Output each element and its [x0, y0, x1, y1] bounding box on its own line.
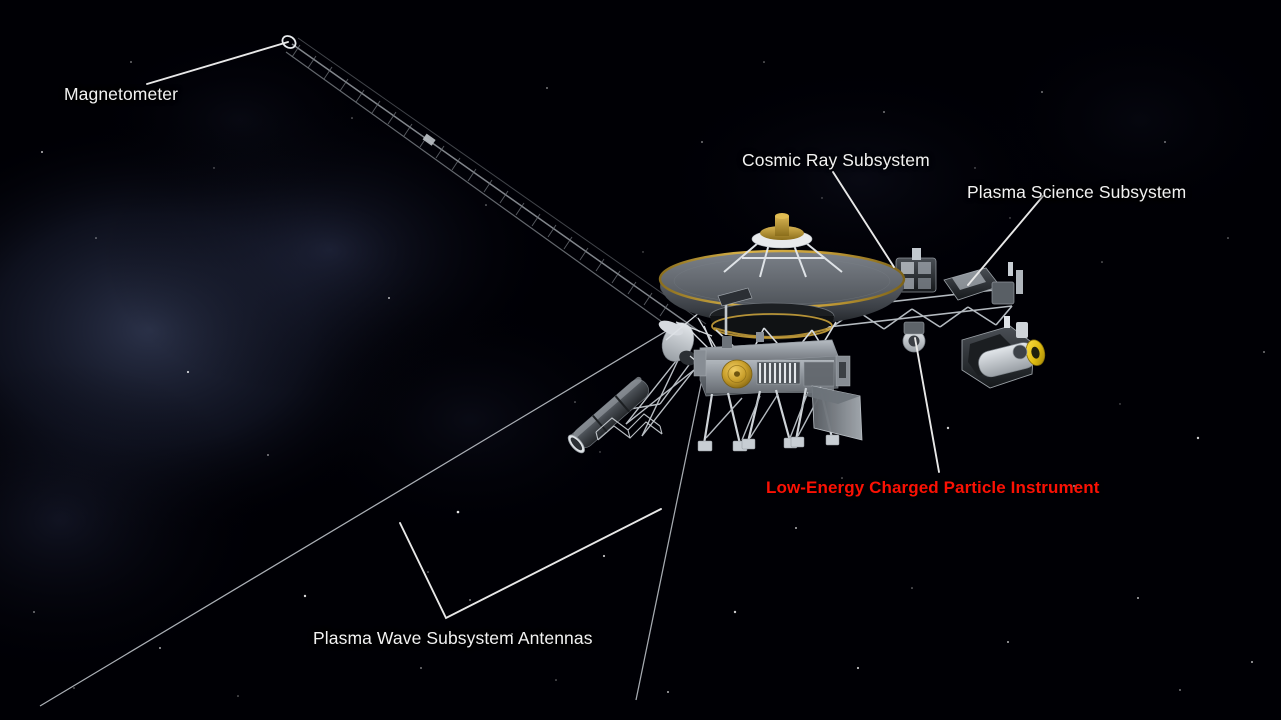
label-plasma-wave-subsystem-antennas: Plasma Wave Subsystem Antennas	[313, 628, 593, 649]
lecp-instrument	[903, 322, 925, 352]
label-low-energy-charged-particle-instrument: Low-Energy Charged Particle Instrument	[766, 478, 1099, 498]
label-cosmic-ray-subsystem: Cosmic Ray Subsystem	[742, 150, 930, 171]
label-plasma-science-subsystem: Plasma Science Subsystem	[967, 182, 1186, 203]
scene-illustration	[0, 0, 1281, 720]
thermal-louvers	[757, 362, 800, 384]
spacecraft-diagram-canvas: Magnetometer Cosmic Ray Subsystem Plasma…	[0, 0, 1281, 720]
label-magnetometer: Magnetometer	[64, 84, 178, 105]
golden-record	[722, 360, 752, 388]
